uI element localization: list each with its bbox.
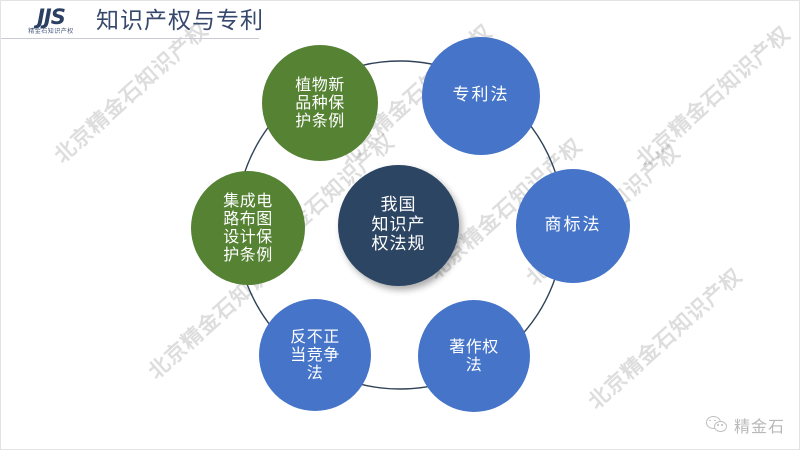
brand-logo: JJS 精金石知识产权 <box>15 7 87 36</box>
node-label: 植物新 品种保 护条例 <box>262 76 378 131</box>
logo-mark-text: JJS <box>15 7 87 27</box>
logo-subtitle-text: 精金石知识产权 <box>15 28 87 36</box>
node-label: 集成电 路布图 设计保 护条例 <box>191 192 305 265</box>
node-label: 著作权 法 <box>418 338 530 374</box>
slide-header: JJS 精金石知识产权 知识产权与专利 <box>1 1 800 41</box>
node-ic-layout[interactable]: 集成电 路布图 设计保 护条例 <box>191 171 305 285</box>
header-divider <box>1 38 259 39</box>
node-label: 商标法 <box>516 216 630 235</box>
footer-brand-text: 精金石 <box>734 413 785 437</box>
node-label: 专利法 <box>422 86 540 105</box>
node-label: 反不正 当竞争 法 <box>259 328 371 383</box>
node-patent-law[interactable]: 专利法 <box>422 37 540 155</box>
center-node-label: 我国 知识产 权法规 <box>338 196 459 254</box>
node-plant-variety[interactable]: 植物新 品种保 护条例 <box>262 45 378 161</box>
center-node-national-ip-regulations[interactable]: 我国 知识产 权法规 <box>338 165 459 286</box>
radial-cycle-diagram: 植物新 品种保 护条例专利法集成电 路布图 设计保 护条例商标法反不正 当竞争 … <box>1 1 800 450</box>
node-copyright-law[interactable]: 著作权 法 <box>418 300 530 412</box>
wechat-icon <box>706 416 728 434</box>
slide-canvas: 北京精金石知识产权北京精金石知识产权北京精金石知识产权北京精金石知识产权北京精金… <box>0 0 800 450</box>
footer-brand: 精金石 <box>706 413 785 437</box>
node-trademark-law[interactable]: 商标法 <box>516 169 630 283</box>
node-anti-unfair-competition[interactable]: 反不正 当竞争 法 <box>259 299 371 411</box>
page-title: 知识产权与专利 <box>96 7 264 35</box>
